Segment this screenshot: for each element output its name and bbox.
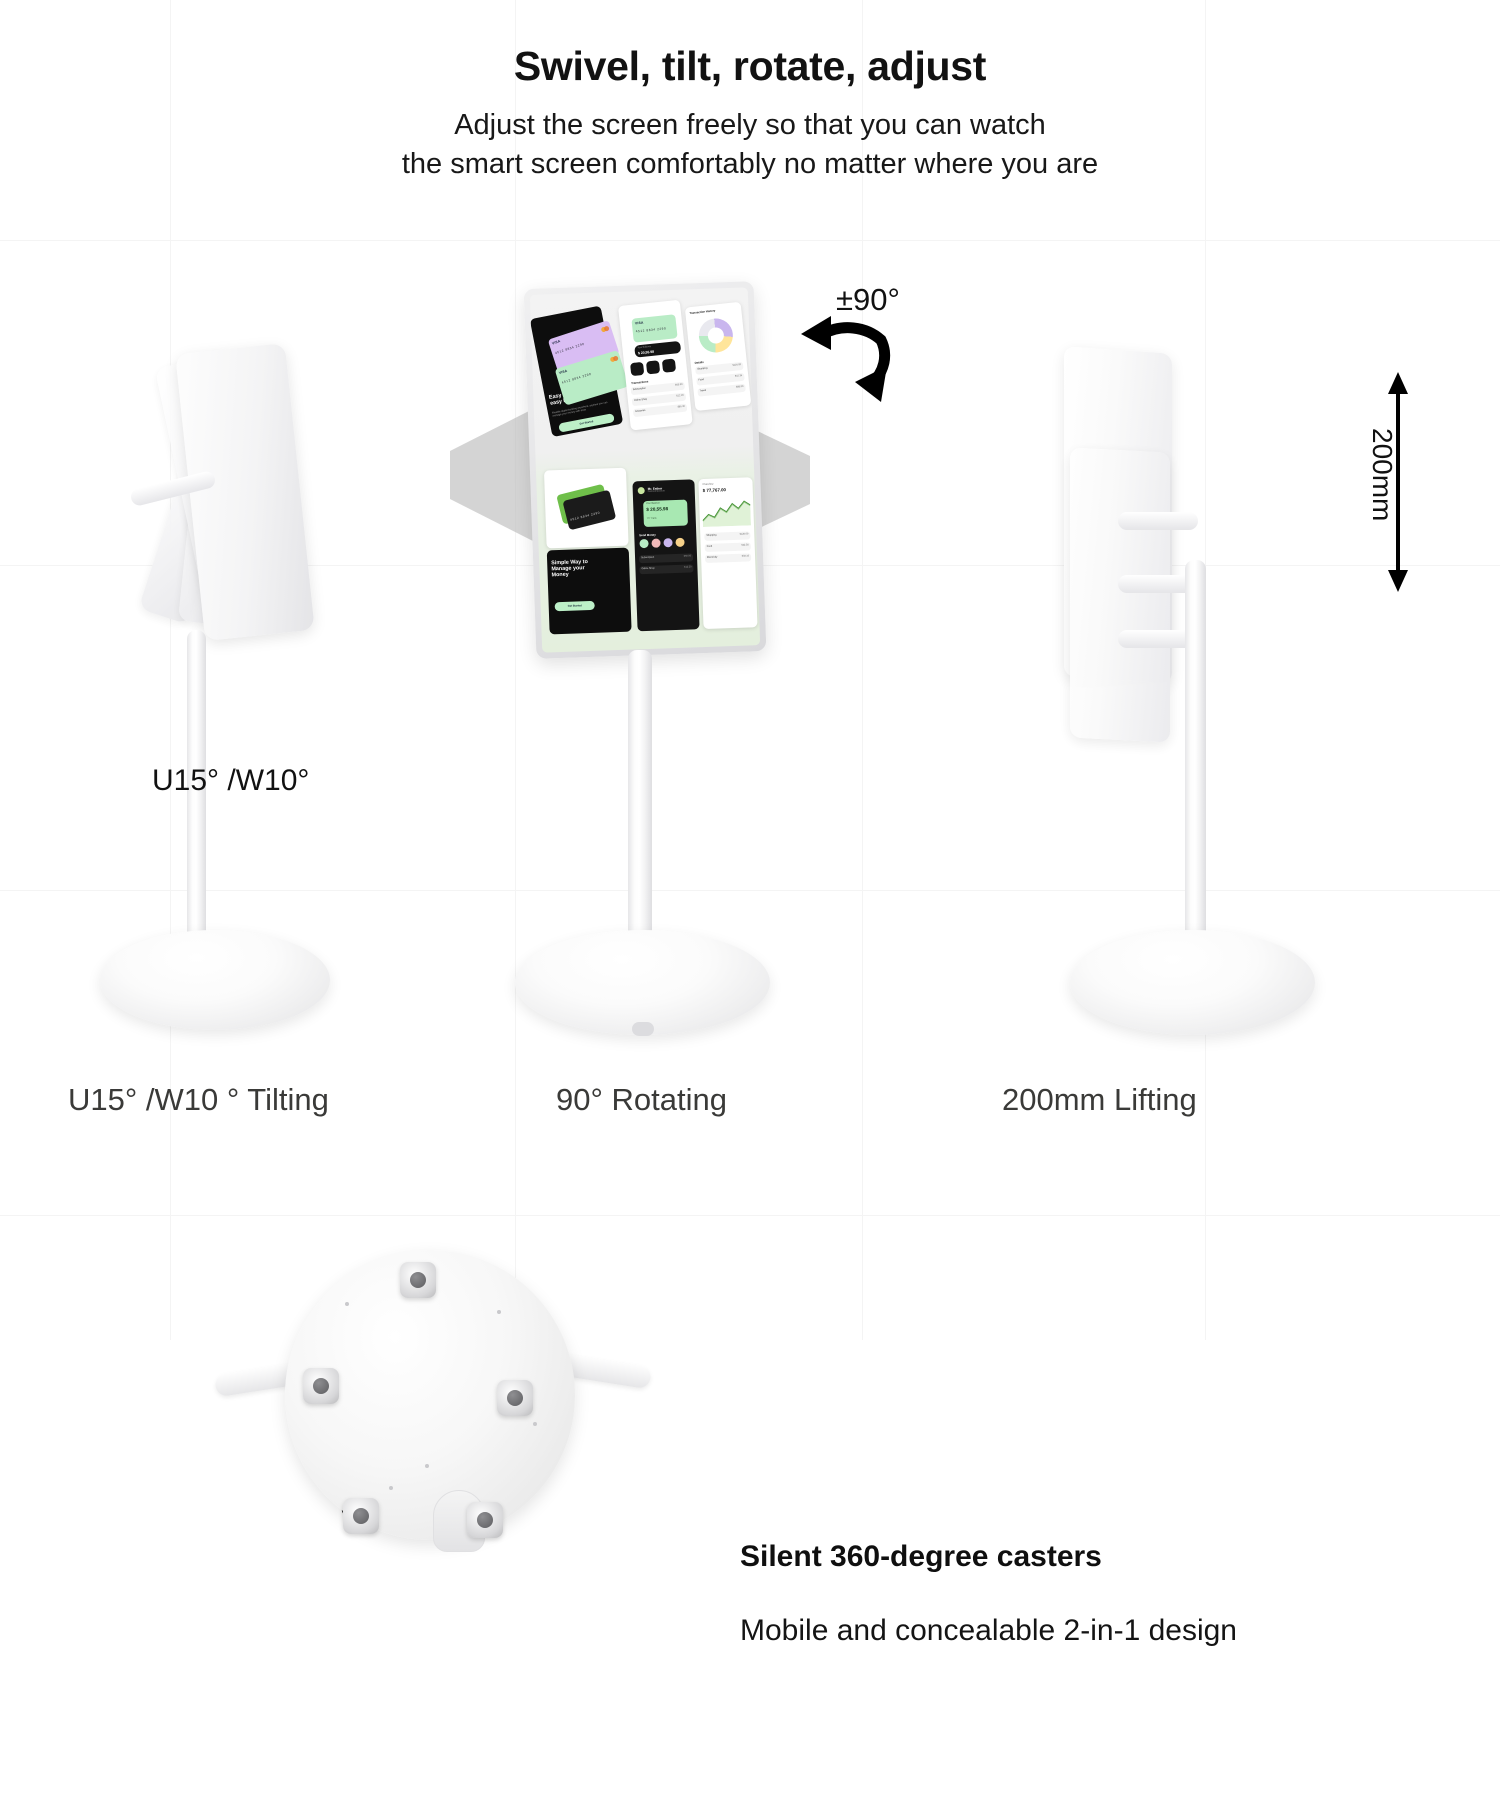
annotation-tilt-label: U15° /W10° — [152, 764, 309, 798]
quick-action-3[interactable] — [662, 359, 676, 373]
caster-wheel — [497, 1380, 533, 1416]
subtitle-line-1: Adjust the screen freely so that you can… — [454, 109, 1046, 141]
overview-label: Overview — [702, 483, 713, 486]
promo-cta-button[interactable]: Get Started — [555, 601, 595, 611]
contact-chip[interactable] — [675, 538, 684, 547]
detail-row[interactable]: Food $42.35 — [705, 542, 751, 552]
caption-lifting: 200mm Lifting — [1002, 1082, 1197, 1118]
analytics-title: Transaction History — [689, 308, 715, 315]
screen-content: Easy banking, easy life! Flexible digita… — [530, 287, 760, 652]
caption-rotating: 90° Rotating — [556, 1082, 727, 1118]
card-showcase-panel: 4512 8834 2290 — [544, 468, 629, 549]
stand-pole — [628, 650, 652, 950]
dashboard-panel-light: VISA 4512 8834 2290 Your Balance $ 20,55… — [618, 300, 693, 431]
avatar — [638, 487, 645, 494]
contact-chip[interactable] — [651, 539, 660, 548]
subtitle-line-2: the smart screen comfortably no matter w… — [0, 145, 1500, 184]
promo-headline: Simple Way to Manage your Money — [551, 559, 588, 579]
transaction-row[interactable]: Subscription $50.00 — [639, 553, 693, 563]
detail-row[interactable]: Travel $88.00 — [697, 384, 746, 397]
stand-base — [1070, 930, 1315, 1035]
annotation-tilt: U15° /W10° — [152, 760, 309, 798]
detail-row[interactable]: Shopping $120.00 — [704, 531, 750, 541]
detail-row[interactable]: Electricity $33.10 — [705, 553, 751, 563]
rotate-arc-arrow-icon — [795, 310, 905, 405]
casters-subtitle: Mobile and concealable 2-in-1 design — [740, 1614, 1440, 1648]
page-subtitle: Adjust the screen freely so that you can… — [0, 106, 1500, 183]
product-view-tilting — [60, 330, 440, 1090]
quick-action-2[interactable] — [646, 360, 660, 374]
caster-wheel — [467, 1502, 503, 1538]
transaction-row[interactable]: Groceries $86.40 — [633, 404, 688, 418]
dashboard-card-mint: VISA 4512 8834 2290 — [631, 314, 677, 342]
promo-panel-dark: Simple Way to Manage your Money Get Star… — [547, 548, 632, 635]
transaction-row[interactable]: Online Shop $12.20 — [639, 564, 693, 574]
stand-base — [515, 930, 770, 1035]
page-title: Swivel, tilt, rotate, adjust — [0, 44, 1500, 89]
base-underside-view — [255, 1240, 615, 1570]
caption-tilting: U15° /W10 ° Tilting — [68, 1082, 329, 1118]
header: Swivel, tilt, rotate, adjust Adjust the … — [0, 44, 1500, 183]
stand-pole — [1185, 560, 1206, 950]
details-title: Details — [694, 360, 704, 365]
dashboard-balance-strip: Your Balance $ 20,55.98 — [634, 341, 681, 358]
spending-donut-chart — [697, 317, 734, 354]
overview-sparkline-chart — [702, 497, 751, 527]
stand-base — [100, 930, 330, 1030]
smart-screen-display: Easy banking, easy life! Flexible digita… — [524, 281, 767, 659]
analytics-panel: Transaction History Details Shopping $12… — [685, 302, 752, 411]
caster-wheel — [343, 1498, 379, 1534]
hero-cta-button[interactable]: Get Started — [558, 413, 615, 433]
annotation-lift-label: 200mm — [1366, 428, 1398, 521]
base-caster-nub — [632, 1022, 654, 1036]
contact-chip[interactable] — [639, 539, 648, 548]
overview-panel: Overview $ 77,767.00 Shopping $120.00 Fo… — [698, 477, 757, 629]
balance-card: Your Balance $ 20,55.98 777 Trans — [643, 500, 688, 528]
casters-title: Silent 360-degree casters — [740, 1540, 1440, 1574]
overview-amount: $ 77,767.00 — [703, 487, 726, 493]
caster-wheel — [400, 1262, 436, 1298]
bottom-copy-block: Silent 360-degree casters Mobile and con… — [740, 1540, 1440, 1648]
contact-chip[interactable] — [663, 538, 672, 547]
account-dashboard-dark: Mr. Esther Personal account Your Balance… — [632, 479, 699, 631]
quick-action-1[interactable] — [630, 362, 644, 376]
lift-arm-upper — [1118, 512, 1198, 530]
lift-screen-lower — [1070, 447, 1170, 742]
caster-wheel — [303, 1368, 339, 1404]
transactions-title: Transactions — [631, 379, 649, 385]
